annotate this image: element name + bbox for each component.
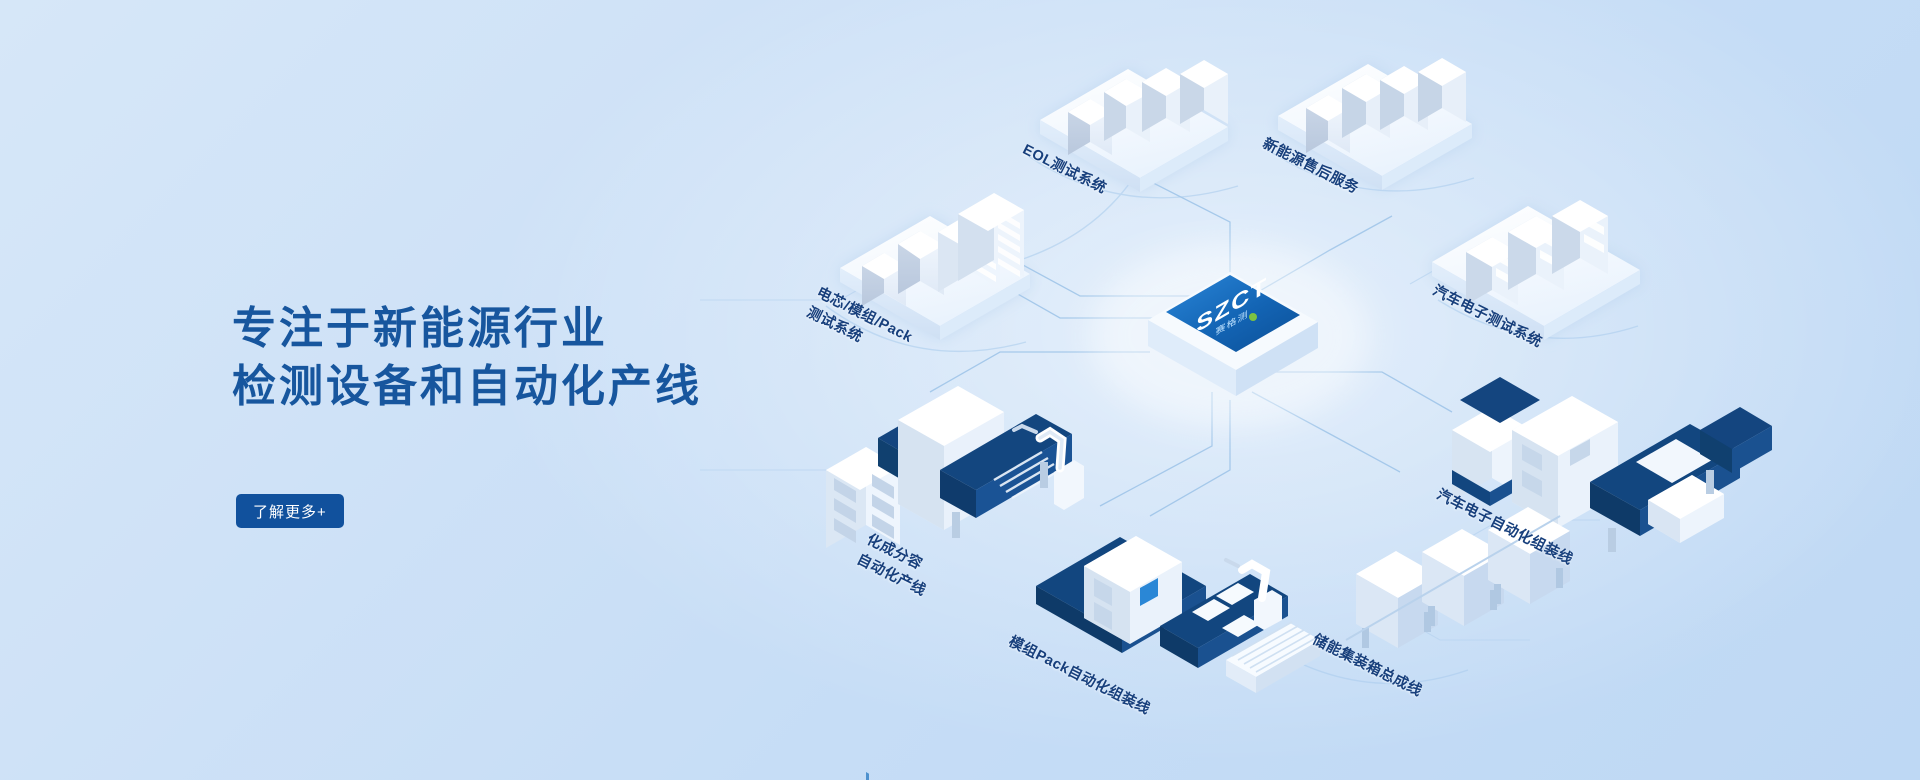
node-after-sales	[1278, 58, 1472, 190]
learn-more-button[interactable]: 了解更多+	[236, 494, 344, 528]
node-module-pack-line	[1036, 536, 1320, 693]
hero-copy: 专注于新能源行业 检测设备和自动化产线	[232, 300, 702, 416]
node-formation-line	[826, 386, 1084, 548]
center-hub-badge: SZCT 赛格测	[1090, 244, 1370, 428]
page-title: 专注于新能源行业 检测设备和自动化产线	[232, 300, 702, 416]
headline-line-2: 检测设备和自动化产线	[232, 358, 702, 416]
hero-banner: SZCT 赛格测	[0, 0, 1920, 780]
node-ess-container-line	[1346, 507, 1570, 648]
node-eol-test	[1040, 60, 1228, 192]
node-auto-electronics-test	[1432, 200, 1640, 340]
headline-line-1: 专注于新能源行业	[232, 300, 702, 358]
